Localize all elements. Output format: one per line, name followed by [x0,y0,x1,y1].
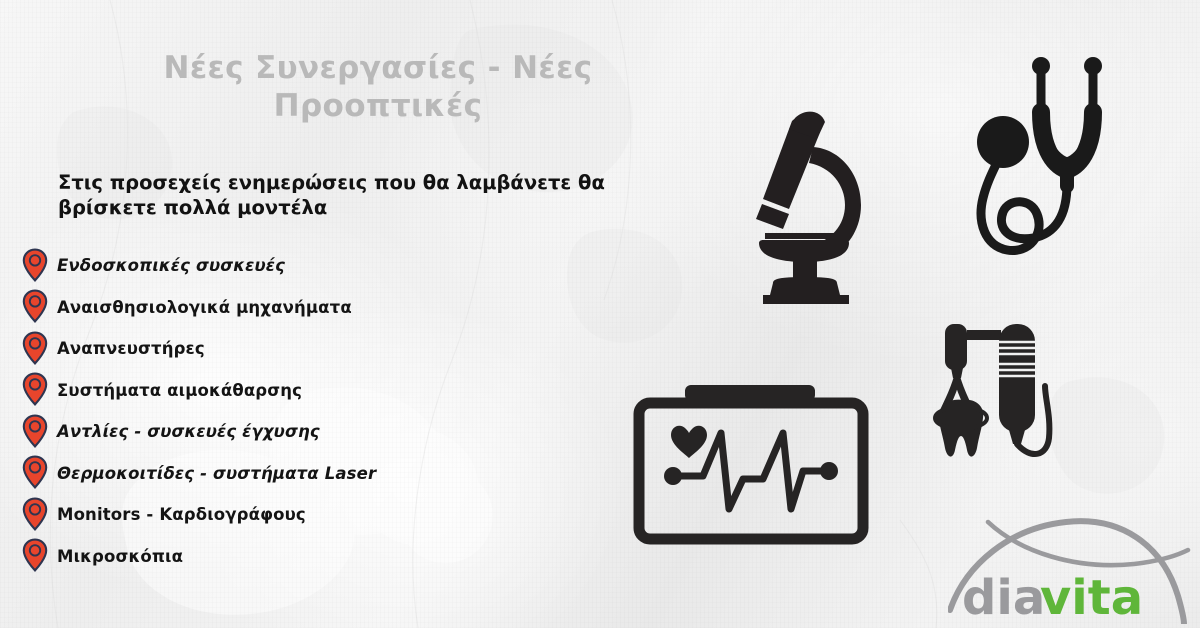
page-title: Νέες Συνεργασίες - Νέες Προοπτικές [118,50,638,126]
list-item-label: Αναπνευστήρες [57,339,205,358]
list-item-label: Αναισθησιολογικά μηχανήματα [57,298,352,317]
list-item[interactable]: Αντλίες - συσκευές έγχυσης [22,411,582,453]
list-item-label: Monitors - Καρδιογράφους [57,505,306,524]
list-item-label: Ενδοσκοπικές συσκευές [57,256,285,275]
list-item-label: Θερμοκοιτίδες - συστήματα Laser [57,464,376,483]
stethoscope-icon [963,52,1133,276]
map-pin-icon [22,289,48,323]
intro-text: Στις προσεχείς ενημερώσεις που θα λαμβάν… [58,170,678,221]
map-pin-icon [22,455,48,489]
logo-text-dia: dia [962,570,1045,624]
microscope-icon [745,105,877,309]
logo-text-vita: vita [1040,570,1143,624]
map-pin-icon [22,497,48,531]
brand-logo[interactable]: dia vita [948,518,1198,624]
dental-instruments-icon [925,312,1065,486]
map-pin-icon [22,372,48,406]
list-item[interactable]: Ενδοσκοπικές συσκευές [22,245,582,287]
patient-monitor-ecg-icon [633,383,869,549]
map-pin-icon [22,331,48,365]
list-item-label: Μικροσκόπια [57,547,183,566]
list-item[interactable]: Συστήματα αιμοκάθαρσης [22,370,582,412]
poster-canvas: Νέες Συνεργασίες - Νέες Προοπτικές Στις … [0,0,1200,628]
list-item[interactable]: Μικροσκόπια [22,536,582,578]
map-pin-icon [22,538,48,572]
list-item[interactable]: Αναπνευστήρες [22,328,582,370]
list-item[interactable]: Monitors - Καρδιογράφους [22,494,582,536]
list-item-label: Συστήματα αιμοκάθαρσης [57,381,302,400]
map-pin-icon [22,248,48,282]
map-pin-icon [22,414,48,448]
equipment-list: Ενδοσκοπικές συσκευές Αναισθησιολογικά μ… [22,245,582,577]
list-item[interactable]: Αναισθησιολογικά μηχανήματα [22,287,582,329]
list-item[interactable]: Θερμοκοιτίδες - συστήματα Laser [22,453,582,495]
list-item-label: Αντλίες - συσκευές έγχυσης [57,422,320,441]
